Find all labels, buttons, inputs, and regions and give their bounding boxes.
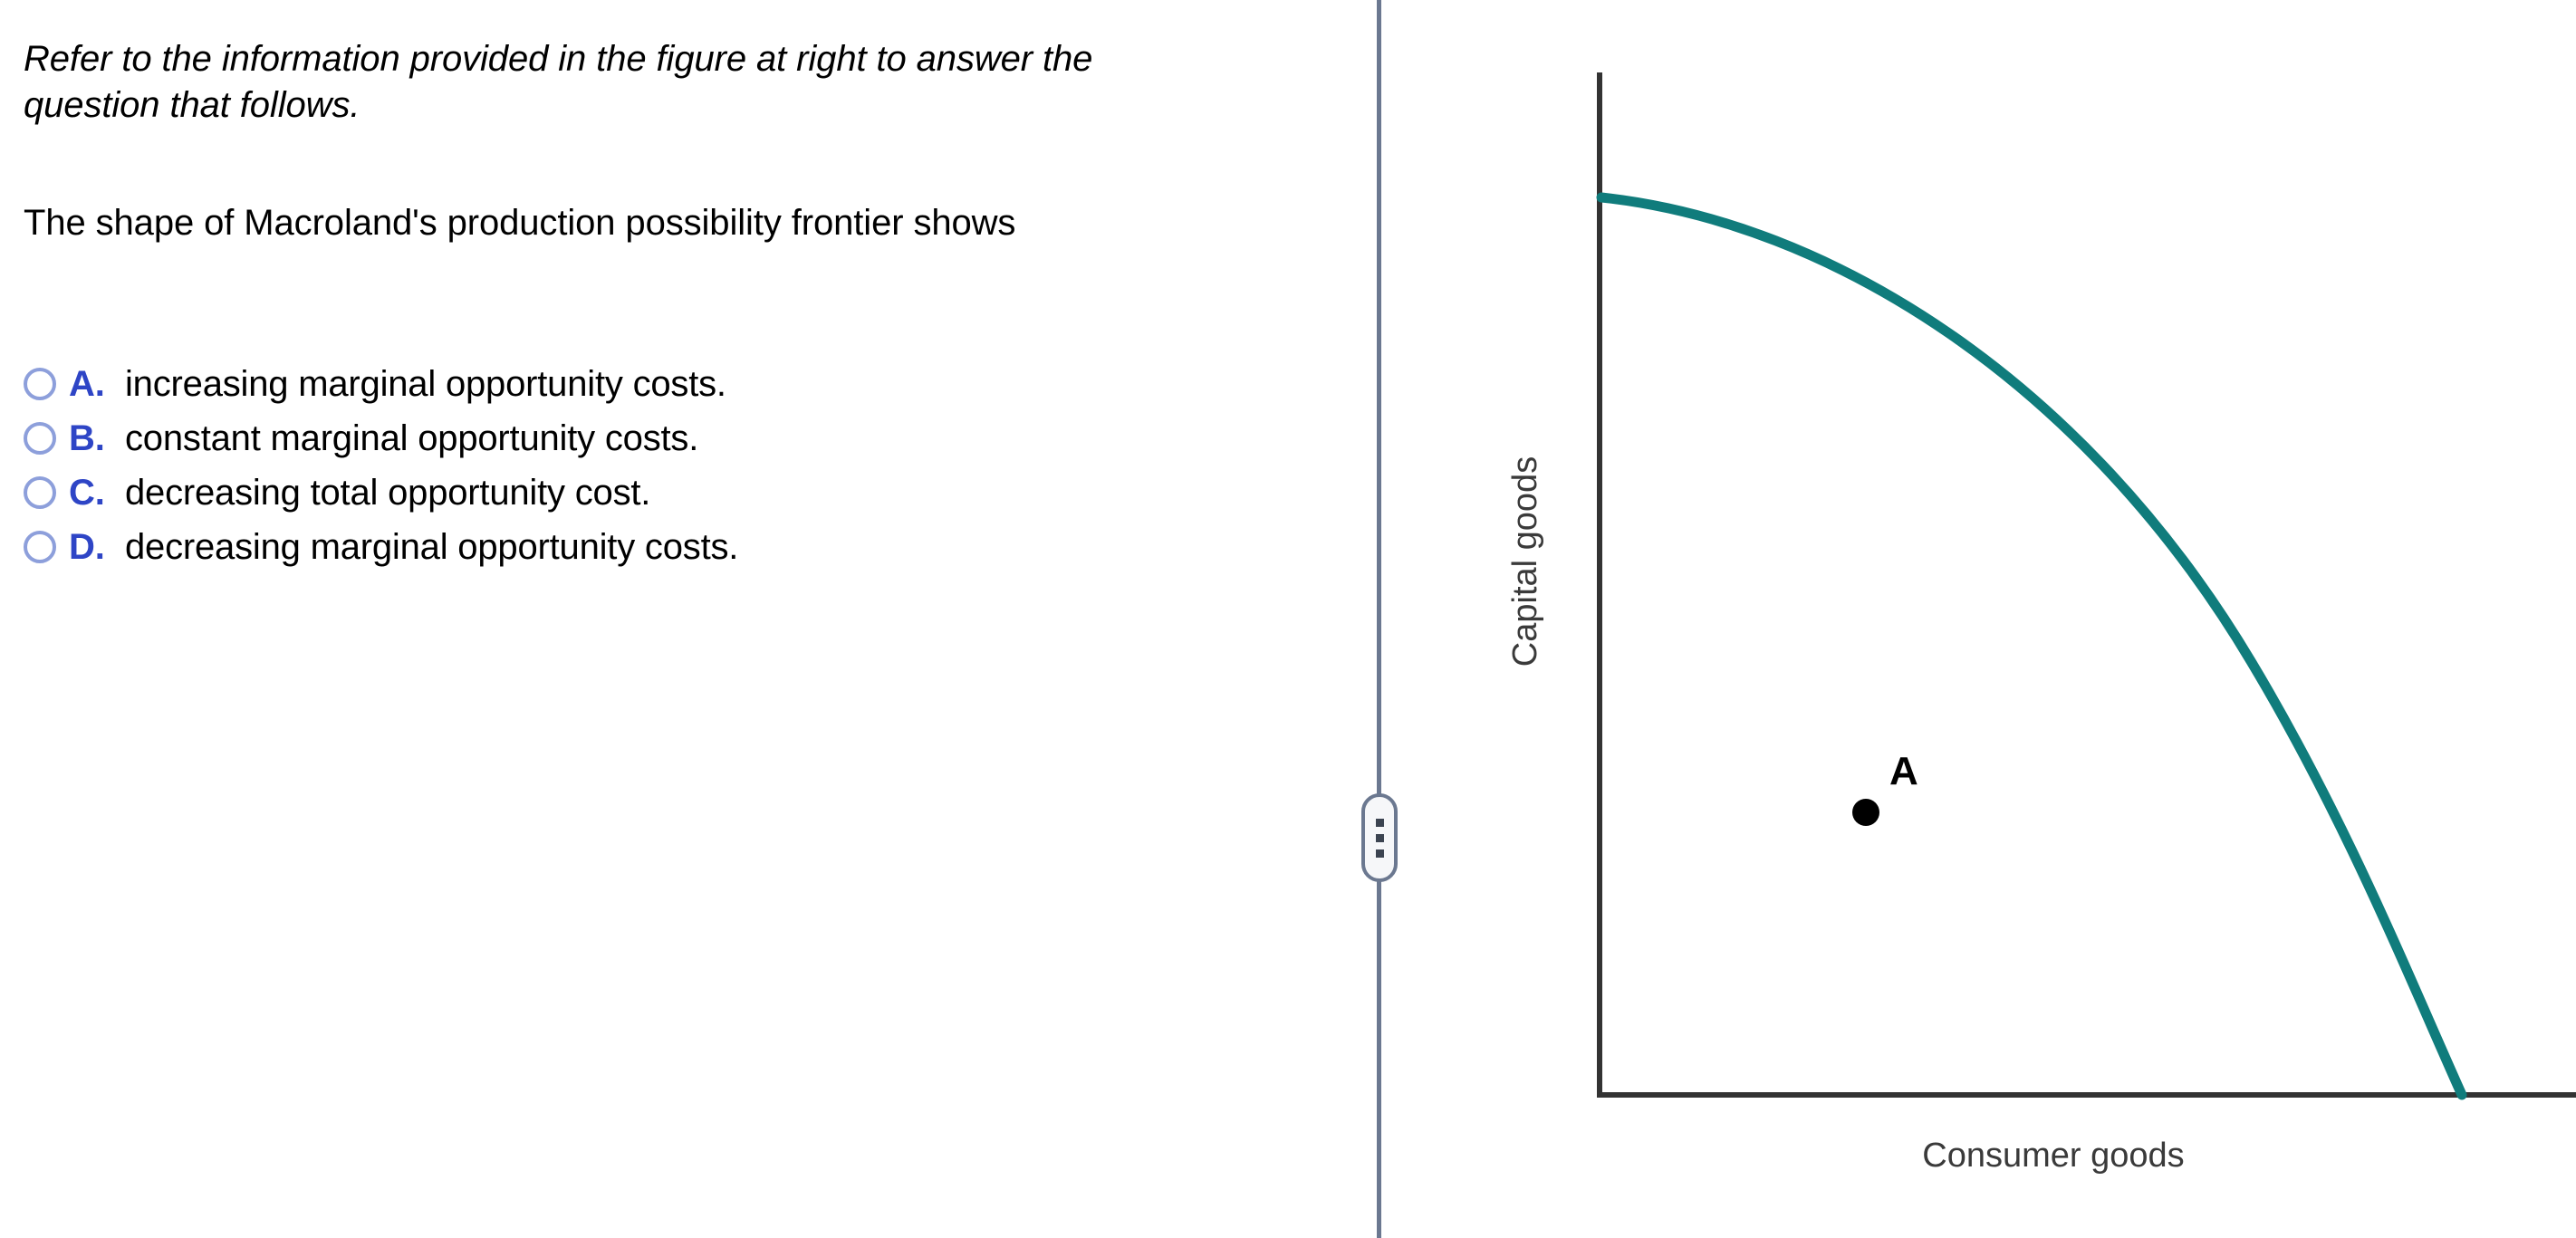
pane-splitter[interactable]: [1358, 0, 1399, 1238]
question-screen: Refer to the information provided in the…: [0, 0, 2576, 1238]
answer-options-list: A. increasing marginal opportunity costs…: [24, 359, 1292, 576]
ppf-chart: A Capital goods Consumer goods: [1359, 0, 2576, 1238]
ppf-curve: [1601, 197, 2462, 1095]
radio-button-c[interactable]: [24, 476, 56, 509]
option-row-a[interactable]: A. increasing marginal opportunity costs…: [24, 359, 1292, 413]
splitter-dot: [1376, 819, 1384, 827]
option-row-d[interactable]: D. decreasing marginal opportunity costs…: [24, 522, 1292, 576]
splitter-drag-handle-icon[interactable]: [1361, 793, 1398, 882]
figure-pane: A Capital goods Consumer goods: [1359, 0, 2576, 1238]
radio-button-a[interactable]: [24, 368, 56, 400]
x-axis-title: Consumer goods: [1922, 1137, 2184, 1175]
y-axis-title: Capital goods: [1506, 456, 1544, 667]
option-text-a: increasing marginal opportunity costs.: [125, 359, 1292, 409]
splitter-divider-line: [1377, 0, 1381, 1238]
point-a-label: A: [1889, 749, 1918, 793]
option-letter-a: A.: [69, 359, 125, 409]
option-letter-b: B.: [69, 413, 125, 464]
splitter-dot: [1376, 834, 1384, 842]
option-row-c[interactable]: C. decreasing total opportunity cost.: [24, 467, 1292, 522]
intro-instruction: Refer to the information provided in the…: [24, 36, 1228, 129]
option-text-c: decreasing total opportunity cost.: [125, 467, 1292, 518]
option-text-b: constant marginal opportunity costs.: [125, 413, 1292, 464]
splitter-dot: [1376, 849, 1384, 858]
option-text-d: decreasing marginal opportunity costs.: [125, 522, 1292, 572]
option-row-b[interactable]: B. constant marginal opportunity costs.: [24, 413, 1292, 467]
radio-button-b[interactable]: [24, 422, 56, 455]
question-stem: The shape of Macroland's production poss…: [24, 200, 1201, 246]
radio-button-d[interactable]: [24, 531, 56, 563]
option-letter-c: C.: [69, 467, 125, 518]
question-pane: Refer to the information provided in the…: [0, 0, 1359, 1238]
option-letter-d: D.: [69, 522, 125, 572]
point-a-marker: [1852, 799, 1879, 826]
